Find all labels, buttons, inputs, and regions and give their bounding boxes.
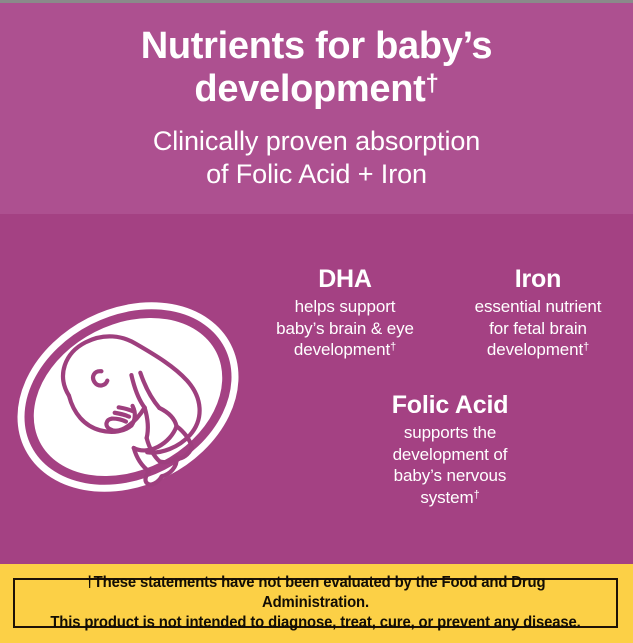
folic-desc-line-4: system (420, 488, 473, 507)
iron-desc-line-2: for fetal brain (489, 319, 587, 338)
subtitle-line-1: Clinically proven absorption (153, 126, 480, 156)
disclaimer-text: †These statements have not been evaluate… (27, 573, 604, 632)
subtitle-line-2: of Folic Acid + Iron (206, 159, 427, 189)
page-subtitle: Clinically proven absorption of Folic Ac… (40, 125, 593, 191)
folic-desc-line-2: development of (393, 445, 508, 464)
nutrient-title-dha: DHA (250, 266, 440, 293)
disclaimer-box: †These statements have not been evaluate… (13, 578, 618, 628)
iron-dagger-symbol: † (583, 341, 589, 353)
nutrient-description-iron: essential nutrient for fetal brain devel… (443, 296, 633, 361)
folic-desc-line-3: baby’s nervous (394, 466, 507, 485)
fetus-in-womb-icon (12, 283, 244, 511)
headline-dagger-symbol: † (426, 70, 439, 97)
dha-dagger-symbol: † (390, 341, 396, 353)
disclaimer-line-1: †These statements have not been evaluate… (86, 574, 546, 611)
nutrient-title-iron: Iron (443, 266, 633, 293)
nutrient-infographic: Nutrients for baby’s development† Clinic… (0, 0, 633, 643)
nutrient-title-folic-acid: Folic Acid (335, 392, 565, 419)
disclaimer-band: †These statements have not been evaluate… (0, 564, 633, 643)
folic-desc-line-1: supports the (404, 423, 496, 442)
iron-desc-line-1: essential nutrient (475, 297, 602, 316)
nutrient-block-folic-acid: Folic Acid supports the development of b… (335, 392, 565, 508)
nutrient-block-dha: DHA helps support baby’s brain & eye dev… (250, 266, 440, 361)
iron-desc-line-3: development (487, 340, 583, 359)
nutrient-block-iron: Iron essential nutrient for fetal brain … (443, 266, 633, 361)
header-band: Nutrients for baby’s development† Clinic… (0, 3, 633, 214)
nutrient-description-dha: helps support baby’s brain & eye develop… (250, 296, 440, 361)
disclaimer-line-2: This product is not intended to diagnose… (50, 614, 580, 631)
folic-dagger-symbol: † (474, 489, 480, 501)
headline-line-1: Nutrients for baby’s (141, 25, 493, 67)
headline-line-2: development (194, 68, 425, 110)
dha-desc-line-2: baby’s brain & eye (276, 319, 414, 338)
dha-desc-line-3: development (294, 340, 390, 359)
nutrient-description-folic-acid: supports the development of baby’s nervo… (335, 422, 565, 508)
page-title: Nutrients for baby’s development† (28, 25, 605, 111)
dha-desc-line-1: helps support (295, 297, 396, 316)
